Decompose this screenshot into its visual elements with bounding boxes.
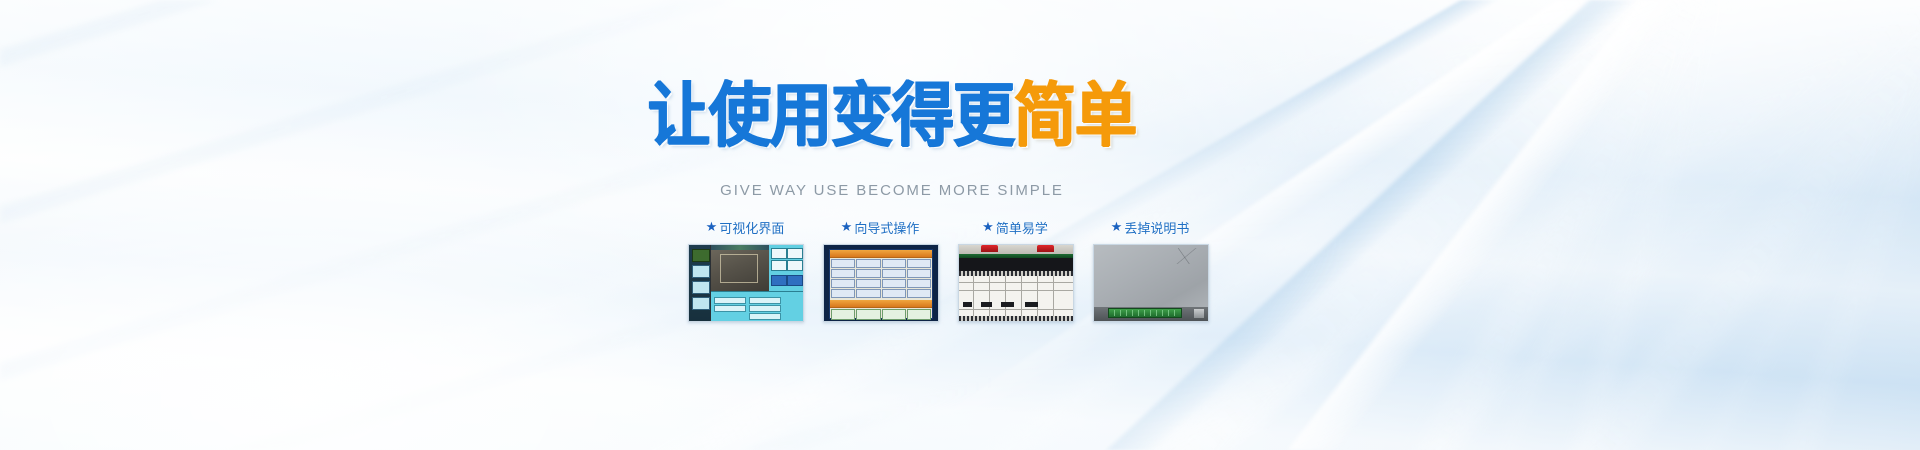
thumb2-header-bar <box>830 300 932 308</box>
thumb1-side-button <box>692 265 710 278</box>
thumb1-side-button <box>692 281 710 294</box>
thumb2-button-row <box>831 289 931 298</box>
headline-segment-orange: 简单 <box>1014 81 1136 150</box>
feature-item-visual-interface[interactable]: ★ 可视化界面 <box>688 218 802 322</box>
thumb1-panel-button <box>771 248 787 259</box>
feature-item-no-manual[interactable]: ★ 丢掉说明书 <box>1093 218 1207 322</box>
banner-content: 让使用变得更简单 GIVE WAY USE BECOME MORE SIMPLE… <box>0 0 1920 450</box>
feature-label-row: ★ 可视化界面 <box>688 218 802 237</box>
thumb2-button-row <box>831 279 931 288</box>
thumb1-checkbox-row <box>749 313 781 320</box>
thumb3-schematic-sheet <box>959 276 1073 316</box>
feature-thumbnail-visual-interface[interactable] <box>688 244 804 322</box>
feature-item-easy-to-learn[interactable]: ★ 简单易学 <box>958 218 1072 322</box>
feature-item-wizard-operation[interactable]: ★ 向导式操作 <box>823 218 937 322</box>
thumb1-right-panel <box>769 245 803 292</box>
thumb1-side-button <box>692 297 710 310</box>
feature-label-text: 可视化界面 <box>719 218 784 237</box>
thumb3-red-clip <box>981 245 998 252</box>
thumb1-checkbox-row <box>714 297 746 304</box>
thumb1-panel-button <box>787 260 803 271</box>
feature-thumbnail-easy-to-learn[interactable] <box>958 244 1074 322</box>
feature-label-row: ★ 向导式操作 <box>823 218 937 237</box>
feature-label-row: ★ 丢掉说明书 <box>1093 218 1207 237</box>
thumb1-checkbox-row <box>749 297 781 304</box>
thumb1-checkbox-row <box>714 305 746 312</box>
thumb3-red-clip <box>1037 245 1054 252</box>
subtitle: GIVE WAY USE BECOME MORE SIMPLE <box>0 182 1852 199</box>
feature-thumbnail-no-manual[interactable] <box>1093 244 1209 322</box>
thumb1-toolbar <box>711 245 769 250</box>
thumb3-pin-teeth <box>959 316 1073 321</box>
thumb1-checkbox-row <box>749 305 781 312</box>
thumb2-screen <box>829 249 933 319</box>
thumb4-surface-mark <box>1172 248 1198 264</box>
thumb1-side-button <box>692 249 710 262</box>
headline: 让使用变得更简单 <box>0 88 1852 150</box>
feature-label-text: 简单易学 <box>996 218 1048 237</box>
feature-label-text: 丢掉说明书 <box>1124 218 1189 237</box>
thumb2-button-row <box>831 259 931 268</box>
thumb2-action-row <box>831 321 931 322</box>
thumb1-panel-button <box>771 275 787 286</box>
thumb2-action-row <box>831 309 931 320</box>
feature-label-row: ★ 简单易学 <box>958 218 1072 237</box>
thumb4-green-connector <box>1108 308 1182 318</box>
star-icon: ★ <box>1111 221 1123 234</box>
thumb1-options-panel <box>711 291 803 321</box>
star-icon: ★ <box>982 221 994 234</box>
feature-label-text: 向导式操作 <box>854 218 919 237</box>
star-icon: ★ <box>706 221 718 234</box>
thumb2-button-row <box>831 269 931 278</box>
feature-list: ★ 可视化界面 <box>688 218 1207 322</box>
headline-segment-blue: 让使用变得更 <box>648 81 1014 150</box>
thumb2-header-bar <box>830 250 932 258</box>
feature-thumbnail-wizard-operation[interactable] <box>823 244 939 322</box>
promo-banner: 让使用变得更简单 GIVE WAY USE BECOME MORE SIMPLE… <box>0 0 1920 450</box>
star-icon: ★ <box>841 221 853 234</box>
thumb1-panel-button <box>787 248 803 259</box>
thumb3-black-strip <box>959 258 1073 271</box>
thumb1-panel-button <box>771 260 787 271</box>
thumb4-side-block <box>1194 309 1204 318</box>
thumb1-camera-view <box>711 245 769 292</box>
thumb1-panel-button <box>787 275 803 286</box>
